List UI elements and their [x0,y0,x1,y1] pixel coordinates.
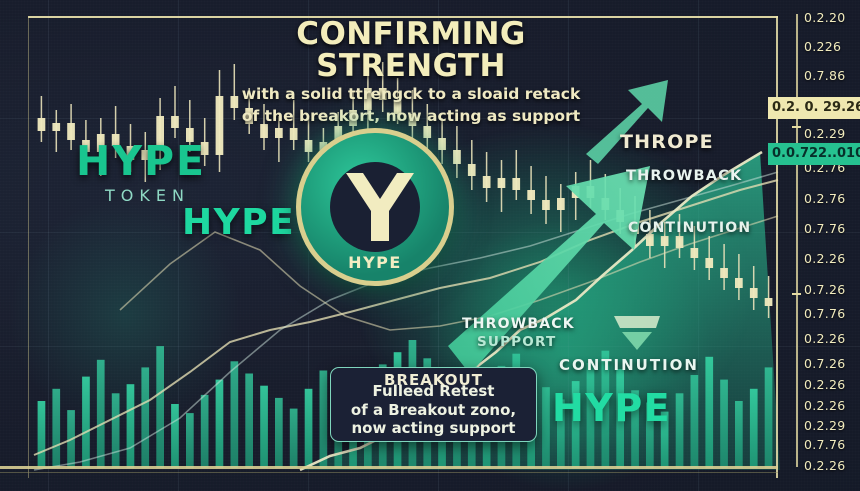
price-tick-label: 0.2.76 [804,191,846,206]
hype-token-subtitle: TOKEN [105,186,190,205]
callout-line-1: Fulleed Retest [337,382,530,401]
price-tick-label: 0.2.26 [804,331,846,346]
callout-body: Fulleed Retest of a Breakout zono, now a… [337,382,530,438]
frame-bottom-line-secondary [0,472,778,473]
price-tick-label: 0.7.76 [804,437,846,452]
candle-body [67,123,75,140]
volume-bar [171,404,179,468]
candle-body [216,96,224,155]
volume-bar [305,389,313,468]
candle-body [438,138,446,150]
annotation-thrope: THROPE [620,131,714,153]
frame-left-line [28,16,29,478]
candle-body [512,178,520,190]
candle-body [409,114,417,126]
candle-body [423,126,431,138]
candle-body [231,96,239,108]
volume-bar [186,413,194,468]
volume-bar [260,386,268,468]
price-tick-label: 0.7.76 [804,306,846,321]
candle-body [52,123,60,131]
price-tick-mark [792,293,801,295]
price-tick-label: 0.2.29 [804,418,846,433]
annotation-continution: CONTINUTION [628,220,751,236]
volume-bar [765,367,773,468]
callout-line-3: now acting support [337,419,530,438]
volume-bar [290,409,298,468]
coin-label: HYPE [301,253,449,272]
volume-bar [720,380,728,468]
volume-bar [156,346,164,468]
price-axis: 0.2.200.2260.7.860.2.290.2.290.2.760.2.7… [778,0,860,491]
annotation-throwback-2: THROWBACK [462,316,575,332]
frame-bottom-line [0,466,778,469]
candle-body [542,200,550,210]
candle-body [735,278,743,288]
volume-bar [750,389,758,468]
volume-bar [82,377,90,468]
volume-bar [52,389,60,468]
volume-bar [231,361,239,468]
volume-bar [542,387,550,468]
candle-body [483,176,491,188]
price-tick-label: 0.2.26 [804,377,846,392]
volume-bar [112,393,120,468]
candle-body [275,128,283,138]
candle-body [527,190,535,200]
price-tick-label: 0.2.20 [804,10,846,25]
candle-body [260,124,268,138]
hype-wordmark-bottom: HYPE [552,386,671,430]
annotation-support: SUPPORT [477,334,556,350]
candle-body [305,140,313,152]
coin-ring-inner: HYPE [301,133,449,281]
candle-body [245,108,253,124]
price-tick-label: 0.226 [804,39,841,54]
price-tick-label: 0.7.86 [804,68,846,83]
price-tick-label: 0.2.26 [804,398,846,413]
price-tick-label: 0.2.29 [804,126,846,141]
price-tick-label: 0.2.26 [804,458,846,473]
hype-coin-logo: HYPE [296,128,454,286]
hype-wordmark-secondary: HYPE [182,202,295,243]
price-tick-label: 0.7.26 [804,356,846,371]
candle-body [557,198,565,210]
candle-body [349,110,357,126]
volume-bar [97,360,105,468]
annotation-continution-2: CONTINUTION [559,356,699,374]
price-tick-mark [792,126,801,128]
volume-bar [245,374,253,469]
volume-bar [275,398,283,468]
volume-bar [691,375,699,468]
volume-bar [127,384,135,468]
candle-body [468,164,476,176]
candle-body [661,236,669,246]
volume-bar [216,380,224,468]
price-tag-current[interactable]: 0.0.722..010 [768,143,860,165]
candle-body [498,178,506,188]
volume-bar [38,401,46,468]
candle-body [705,258,713,268]
annotation-throwback: THROWBACK [626,168,742,184]
candle-body [691,248,699,258]
price-tick-label: 0.2.26 [804,251,846,266]
hype-wordmark-primary: HYPE [76,137,206,185]
candle-body [171,116,179,128]
breakout-callout-box: BREAKOUT Fulleed Retest of a Breakout zo… [330,367,537,442]
price-axis-line [796,14,798,467]
volume-bar [735,401,743,468]
candle-body [394,100,402,114]
candle-body [379,88,387,100]
frame-top-line [28,16,778,18]
price-tick-label: 0.7.26 [804,282,846,297]
price-tick-label: 0.7.76 [804,221,846,236]
volume-bar [676,393,684,468]
y-glyph-icon [301,159,459,251]
candle-body [364,88,372,110]
candle-body [38,118,46,131]
candle-body [290,128,298,140]
volume-bar [201,395,209,468]
candle-body [750,288,758,298]
callout-line-2: of a Breakout zono, [337,401,530,420]
chart-infographic-canvas: CONFIRMING STRENGTH with a solid ttrengc… [0,0,860,491]
volume-bar [320,371,328,469]
candle-body [720,268,728,278]
volume-bar [705,357,713,468]
volume-bar [141,367,149,468]
candle-body [765,298,773,306]
price-tag-marker[interactable]: 0.2. 0. 29.26 [768,97,860,119]
